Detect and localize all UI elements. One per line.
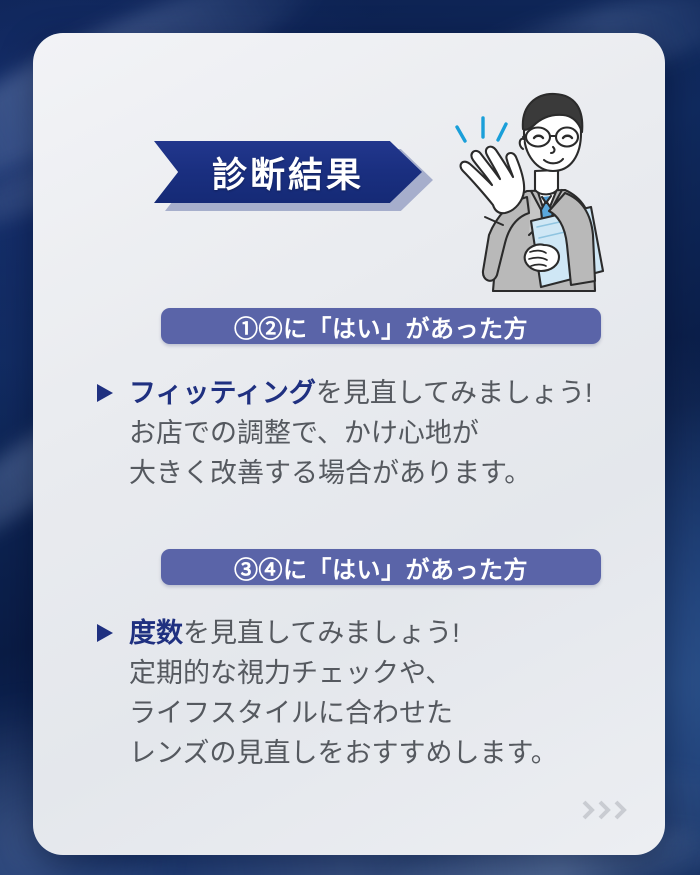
section-header-1: ①②に「はい」があった方 [161, 308, 601, 344]
body-line: 度数を見直してみましょう! [95, 613, 558, 653]
body-rest: レンズの見直しをおすすめします。 [129, 733, 558, 773]
result-card: 診断結果 [33, 33, 665, 855]
body-line: 定期的な視力チェックや、 [95, 653, 558, 693]
section-body-1: フィッティングを見直してみましょう! お店での調整で、かけ心地が 大きく改善する… [95, 373, 593, 493]
body-rest: を見直してみましょう! [183, 618, 460, 648]
triangle-right-icon [95, 613, 117, 653]
page-title-banner: 診断結果 [154, 141, 436, 209]
body-line: お店での調整で、かけ心地が [95, 413, 593, 453]
background: 診断結果 [0, 0, 700, 875]
body-line: 大きく改善する場合があります。 [95, 453, 593, 493]
chevron-right-triple-icon[interactable] [581, 799, 627, 821]
businessman-presenting-illustration [445, 85, 637, 297]
keyword-text: 度数 [129, 618, 183, 648]
body-rest: を見直してみましょう! [316, 378, 593, 408]
body-rest: お店での調整で、かけ心地が [129, 413, 479, 453]
body-line: フィッティングを見直してみましょう! [95, 373, 593, 413]
body-rest: 定期的な視力チェックや、 [129, 653, 452, 693]
body-line: レンズの見直しをおすすめします。 [95, 733, 558, 773]
triangle-right-icon [95, 373, 117, 413]
body-text: フィッティングを見直してみましょう! [129, 373, 593, 413]
body-rest: ライフスタイルに合わせた [129, 693, 453, 733]
body-line: ライフスタイルに合わせた [95, 693, 558, 733]
section-header-2: ③④に「はい」があった方 [161, 549, 601, 585]
keyword-text: フィッティング [129, 378, 316, 408]
sparkle-icon [457, 118, 506, 141]
body-rest: 大きく改善する場合があります。 [129, 453, 531, 493]
body-text: 度数を見直してみましょう! [129, 613, 460, 653]
page-title: 診断結果 [154, 141, 422, 203]
section-body-2: 度数を見直してみましょう! 定期的な視力チェックや、 ライフスタイルに合わせた … [95, 613, 558, 773]
